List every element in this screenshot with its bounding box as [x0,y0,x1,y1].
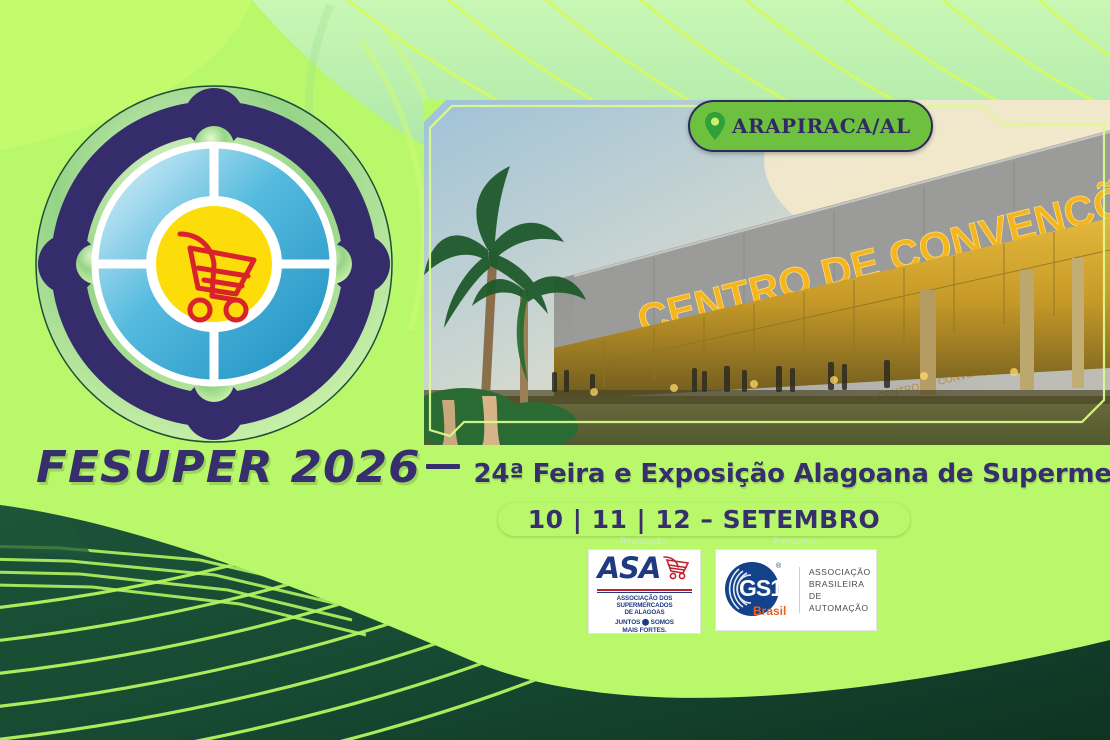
map-pin-icon [704,111,726,141]
gs1-country: Brasil [753,604,786,618]
event-date-pill: 10 | 11 | 12 – SETEMBRO [498,503,910,536]
poster-canvas: CENTRO DE CONVENÇÕES DE ARAPIRACA CENTRO… [0,0,1110,740]
asa-wordmark: ASA [598,554,661,583]
gs1-logo[interactable]: GS1 ® Brasil ASSOCIAÇÃO BRASILEIRA DE AU… [715,549,877,631]
asa-cart-icon [661,554,691,580]
fesuper-logo-emblem [22,82,412,447]
asa-line-3: JUNTOS ⬤ SOMOS [593,619,696,627]
patrocinio-caption: Patrocínio: [773,536,818,546]
title-separator [426,464,460,469]
gs1-brand: GS [739,575,770,601]
event-name: FESUPER 2026 [36,442,421,493]
location-label: ARAPIRACA/AL [732,114,911,138]
event-date-text: 10 | 11 | 12 – SETEMBRO [528,505,881,534]
asa-line-2: DE ALAGOAS [593,609,696,616]
event-subtitle: 24ª Feira e Exposição Alagoana de Superm… [474,459,1110,489]
asa-line-4: MAIS FORTES. [593,627,696,635]
gs1-description: ASSOCIAÇÃO BRASILEIRA DE AUTOMAÇÃO [809,566,871,614]
gs1-mark: GS1 ® Brasil [721,557,799,623]
asa-logo[interactable]: ASA [588,549,701,634]
gs1-registered-mark: ® [776,563,781,570]
gs1-desc-line-1: ASSOCIAÇÃO [809,566,871,578]
gs1-divider [799,567,800,613]
asa-line-1: ASSOCIAÇÃO DOS SUPERMERCADOS [593,595,696,610]
title-row: FESUPER 2026 24ª Feira e Exposição Alago… [36,442,1076,490]
sponsor-realizacao: Realização: ASA [588,536,701,634]
gs1-wordmark: GS1 [739,577,782,600]
sponsor-strip: Realização: ASA [588,536,878,636]
gs1-numeral: 1 [770,575,782,601]
realizacao-caption: Realização: [620,536,669,546]
location-badge[interactable]: ARAPIRACA/AL [688,100,933,152]
sponsor-patrocinio: Patrocínio: GS1 [715,536,877,631]
gs1-desc-line-2: BRASILEIRA [809,578,871,590]
gs1-desc-line-3: DE AUTOMAÇÃO [809,590,871,614]
